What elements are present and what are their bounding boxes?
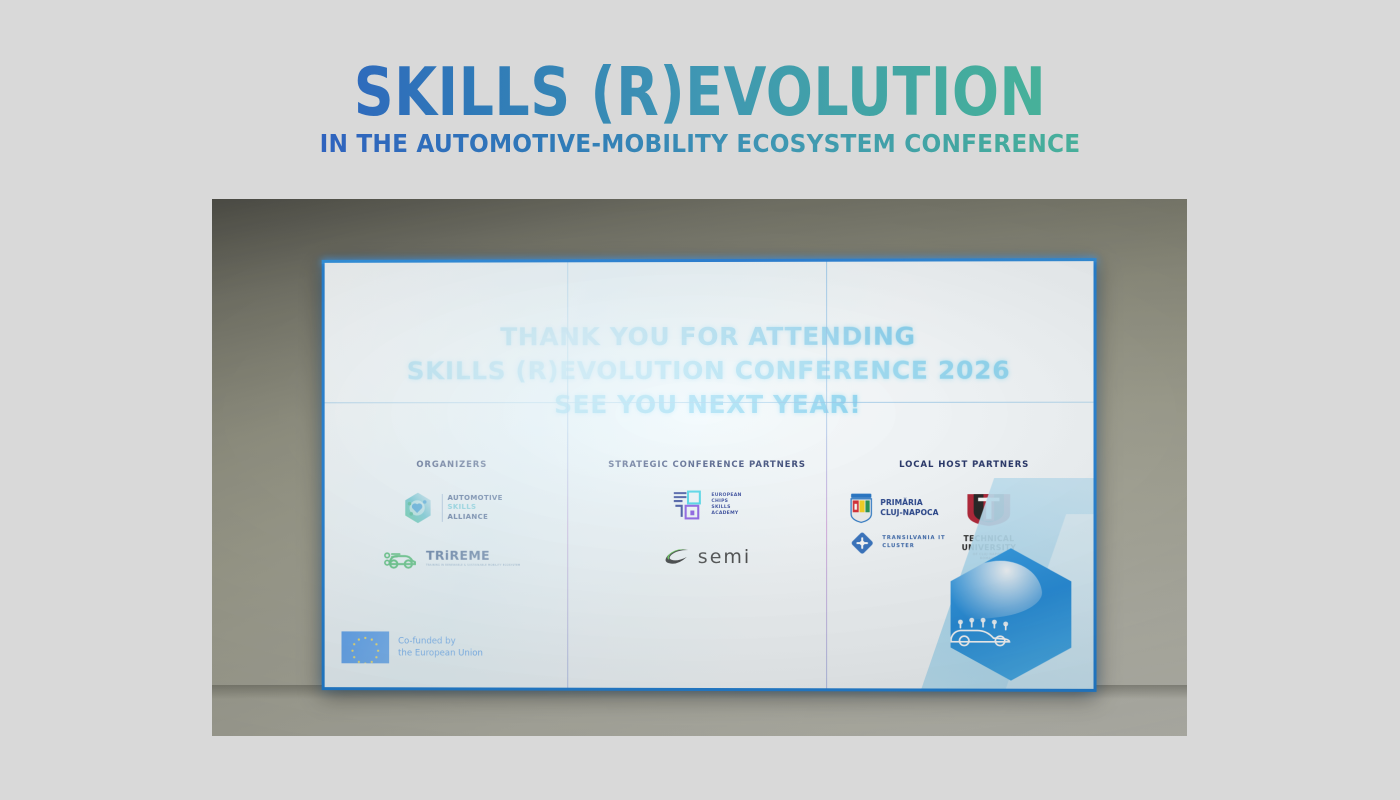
ecsa-wordmark: EUROPEAN CHIPS SKILLS ACADEMY [711,493,741,517]
eu-stars [342,631,390,663]
asa-wordmark: AUTOMOTIVE SKILLS ALLIANCE [441,494,502,522]
primaria-coat-of-arms-icon [849,492,873,524]
partner-columns: ORGANIZERS [325,460,1094,576]
asa-word-3: ALLIANCE [447,513,502,522]
primaria-line-2: CLUJ-NAPOCA [880,508,938,518]
logo-primaria-cluj-napoca: PRIMĂRIA CLUJ-NAPOCA [849,492,938,524]
conference-room-photo: THANK YOU FOR ATTENDING SKILLS (R)EVOLUT… [212,199,1187,736]
utcn-line-2: UNIVERSITY [962,544,1017,553]
trireme-name: TRiREME [426,550,520,563]
closing-slide: THANK YOU FOR ATTENDING SKILLS (R)EVOLUT… [325,261,1094,689]
thank-you-message: THANK YOU FOR ATTENDING SKILLS (R)EVOLUT… [325,319,1094,421]
video-wall-display: THANK YOU FOR ATTENDING SKILLS (R)EVOLUT… [322,258,1097,692]
conference-brand-logo: SKILLS (R)EVOLUTION IN THE AUTOMOTIVE-MO… [0,58,1400,158]
screenshot-canvas: SKILLS (R)EVOLUTION IN THE AUTOMOTIVE-MO… [0,0,1400,800]
logo-automotive-skills-alliance: AUTOMOTIVE SKILLS ALLIANCE [325,491,580,525]
european-union-flag-icon [342,631,390,663]
semi-swoosh-icon [663,547,691,567]
ecsa-line-4: ACADEMY [711,511,741,517]
logo-trireme: TRiREME TRAINING IN RENEWABLE & SUSTAINA… [325,548,580,570]
primaria-wordmark: PRIMĂRIA CLUJ-NAPOCA [880,498,938,519]
logo-transilvania-it-cluster: TRANSILVANIA IT CLUSTER [849,530,945,556]
titc-wordmark: TRANSILVANIA IT CLUSTER [882,536,945,551]
eu-funding-text: Co-funded by the European Union [398,635,483,659]
utcn-wordmark: TECHNICAL UNIVERSITY [962,535,1017,552]
utcn-sub-2: ROMANIA [962,557,1017,561]
column-heading-local-host-partners: LOCAL HOST PARTNERS [835,460,1093,470]
local-partner-logos: PRIMĂRIA CLUJ-NAPOCA [835,484,1093,576]
logo-semi: semi [579,546,835,568]
eu-funding-line-1: Co-funded by [398,635,483,647]
column-local-host-partners: LOCAL HOST PARTNERS [835,460,1093,576]
logo-european-chips-skills-academy: EUROPEAN CHIPS SKILLS ACADEMY [579,490,835,520]
ecsa-chip-icon [672,490,704,520]
logo-technical-university: TECHNICAL UNIVERSITY OF CLUJ-NAPOCA ROMA… [962,492,1017,561]
trireme-wordmark: TRiREME TRAINING IN RENEWABLE & SUSTAINA… [426,550,520,567]
utcn-shield-icon [966,492,1012,528]
message-line-3: SEE YOU NEXT YEAR! [325,387,1094,421]
titc-line-1: TRANSILVANIA IT [882,536,945,544]
eu-funding-notice: Co-funded by the European Union [342,631,483,663]
primaria-line-1: PRIMĂRIA [880,498,938,508]
titc-diamond-icon [849,530,875,556]
trireme-tagline: TRAINING IN RENEWABLE & SUSTAINABLE MOBI… [426,565,520,568]
page-title: SKILLS (R)EVOLUTION [56,58,1344,126]
eu-funding-line-2: the European Union [398,647,483,659]
column-strategic-partners: STRATEGIC CONFERENCE PARTNERS [579,460,835,576]
video-wall-screen: THANK YOU FOR ATTENDING SKILLS (R)EVOLUT… [325,261,1094,689]
asa-word-1: AUTOMOTIVE [447,494,502,503]
column-organizers: ORGANIZERS [325,460,580,576]
column-heading-strategic-partners: STRATEGIC CONFERENCE PARTNERS [579,460,835,470]
trireme-car-icon [383,548,419,570]
artwork-car-illustration [945,616,1031,646]
message-line-1: THANK YOU FOR ATTENDING [325,319,1094,354]
page-subtitle: IN THE AUTOMOTIVE-MOBILITY ECOSYSTEM CON… [49,129,1351,158]
semi-wordmark: semi [698,546,751,568]
utcn-subtext: OF CLUJ-NAPOCA ROMANIA [962,553,1017,561]
titc-line-2: CLUSTER [882,543,945,551]
column-heading-organizers: ORGANIZERS [325,460,580,470]
message-line-2: SKILLS (R)EVOLUTION CONFERENCE 2026 [325,353,1094,388]
asa-hexagon-icon [401,491,435,525]
asa-word-2: SKILLS [447,503,502,512]
